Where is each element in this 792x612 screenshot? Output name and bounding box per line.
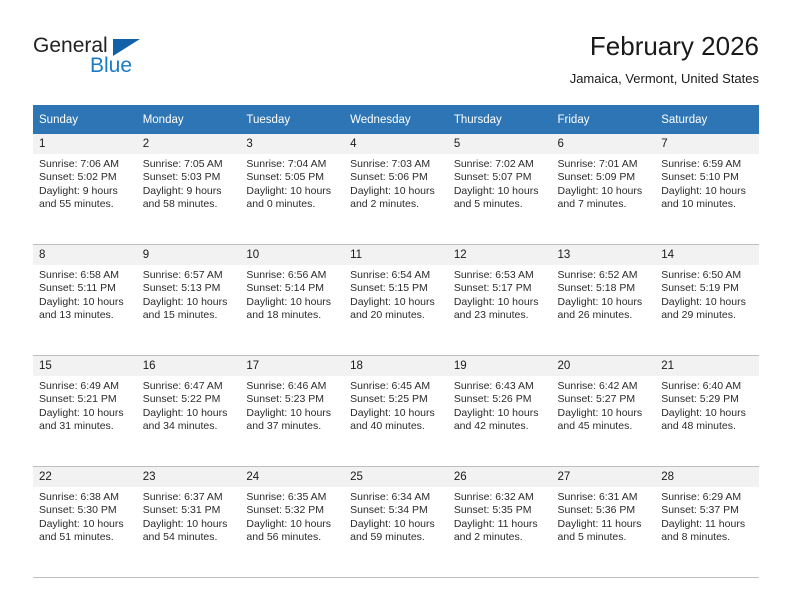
day-number: 9 bbox=[137, 245, 241, 265]
calendar-day-cell[interactable]: 23Sunrise: 6:37 AMSunset: 5:31 PMDayligh… bbox=[137, 467, 241, 578]
day-info-daylight-2: and 51 minutes. bbox=[39, 531, 131, 544]
day-info-daylight-1: Daylight: 10 hours bbox=[350, 407, 442, 420]
page-title: February 2026 bbox=[570, 30, 759, 62]
day-info-daylight-1: Daylight: 9 hours bbox=[143, 185, 235, 198]
day-info-sunset: Sunset: 5:03 PM bbox=[143, 171, 235, 184]
weekday-header-sunday: Sunday bbox=[33, 105, 137, 134]
day-info-daylight-2: and 29 minutes. bbox=[661, 309, 753, 322]
calendar-day-cell[interactable]: 10Sunrise: 6:56 AMSunset: 5:14 PMDayligh… bbox=[240, 245, 344, 356]
day-sun-info: Sunrise: 6:45 AMSunset: 5:25 PMDaylight:… bbox=[344, 376, 448, 434]
day-info-sunrise: Sunrise: 6:35 AM bbox=[246, 491, 338, 504]
calendar-day-cell[interactable]: 19Sunrise: 6:43 AMSunset: 5:26 PMDayligh… bbox=[448, 356, 552, 467]
day-info-daylight-1: Daylight: 10 hours bbox=[246, 518, 338, 531]
day-info-daylight-2: and 7 minutes. bbox=[558, 198, 650, 211]
calendar-day-cell[interactable]: 27Sunrise: 6:31 AMSunset: 5:36 PMDayligh… bbox=[552, 467, 656, 578]
day-info-sunset: Sunset: 5:11 PM bbox=[39, 282, 131, 295]
day-number: 2 bbox=[137, 134, 241, 154]
day-info-sunset: Sunset: 5:29 PM bbox=[661, 393, 753, 406]
day-info-sunset: Sunset: 5:14 PM bbox=[246, 282, 338, 295]
title-block: February 2026 Jamaica, Vermont, United S… bbox=[570, 30, 759, 89]
calendar-day-cell[interactable]: 26Sunrise: 6:32 AMSunset: 5:35 PMDayligh… bbox=[448, 467, 552, 578]
day-info-daylight-1: Daylight: 10 hours bbox=[661, 296, 753, 309]
day-sun-info: Sunrise: 6:52 AMSunset: 5:18 PMDaylight:… bbox=[552, 265, 656, 323]
day-info-daylight-2: and 8 minutes. bbox=[661, 531, 753, 544]
day-sun-info: Sunrise: 6:32 AMSunset: 5:35 PMDaylight:… bbox=[448, 487, 552, 545]
day-sun-info: Sunrise: 6:42 AMSunset: 5:27 PMDaylight:… bbox=[552, 376, 656, 434]
day-info-daylight-2: and 56 minutes. bbox=[246, 531, 338, 544]
day-info-sunset: Sunset: 5:37 PM bbox=[661, 504, 753, 517]
day-info-sunset: Sunset: 5:09 PM bbox=[558, 171, 650, 184]
calendar-day-cell[interactable]: 20Sunrise: 6:42 AMSunset: 5:27 PMDayligh… bbox=[552, 356, 656, 467]
calendar-day-cell[interactable]: 9Sunrise: 6:57 AMSunset: 5:13 PMDaylight… bbox=[137, 245, 241, 356]
day-info-daylight-2: and 59 minutes. bbox=[350, 531, 442, 544]
day-number: 26 bbox=[448, 467, 552, 487]
day-number: 15 bbox=[33, 356, 137, 376]
day-info-daylight-2: and 10 minutes. bbox=[661, 198, 753, 211]
day-info-sunrise: Sunrise: 6:56 AM bbox=[246, 269, 338, 282]
day-info-sunrise: Sunrise: 6:49 AM bbox=[39, 380, 131, 393]
day-info-sunrise: Sunrise: 6:29 AM bbox=[661, 491, 753, 504]
weekday-header-thursday: Thursday bbox=[448, 105, 552, 134]
day-sun-info: Sunrise: 7:03 AMSunset: 5:06 PMDaylight:… bbox=[344, 154, 448, 212]
day-sun-info: Sunrise: 6:58 AMSunset: 5:11 PMDaylight:… bbox=[33, 265, 137, 323]
day-info-sunset: Sunset: 5:19 PM bbox=[661, 282, 753, 295]
day-number: 3 bbox=[240, 134, 344, 154]
day-number: 8 bbox=[33, 245, 137, 265]
day-sun-info: Sunrise: 6:43 AMSunset: 5:26 PMDaylight:… bbox=[448, 376, 552, 434]
day-number: 21 bbox=[655, 356, 759, 376]
day-info-daylight-1: Daylight: 10 hours bbox=[39, 296, 131, 309]
day-info-sunrise: Sunrise: 6:37 AM bbox=[143, 491, 235, 504]
day-info-daylight-2: and 40 minutes. bbox=[350, 420, 442, 433]
calendar-week-row: 22Sunrise: 6:38 AMSunset: 5:30 PMDayligh… bbox=[33, 467, 759, 578]
day-info-sunset: Sunset: 5:15 PM bbox=[350, 282, 442, 295]
day-info-sunrise: Sunrise: 7:05 AM bbox=[143, 158, 235, 171]
calendar-day-cell[interactable]: 25Sunrise: 6:34 AMSunset: 5:34 PMDayligh… bbox=[344, 467, 448, 578]
day-info-daylight-2: and 13 minutes. bbox=[39, 309, 131, 322]
day-info-daylight-2: and 20 minutes. bbox=[350, 309, 442, 322]
day-number: 4 bbox=[344, 134, 448, 154]
day-number: 5 bbox=[448, 134, 552, 154]
day-info-sunset: Sunset: 5:27 PM bbox=[558, 393, 650, 406]
day-number: 1 bbox=[33, 134, 137, 154]
day-info-sunrise: Sunrise: 6:31 AM bbox=[558, 491, 650, 504]
day-info-daylight-1: Daylight: 10 hours bbox=[39, 407, 131, 420]
day-info-sunset: Sunset: 5:06 PM bbox=[350, 171, 442, 184]
day-info-sunrise: Sunrise: 7:04 AM bbox=[246, 158, 338, 171]
day-info-daylight-1: Daylight: 10 hours bbox=[143, 296, 235, 309]
day-info-daylight-1: Daylight: 10 hours bbox=[39, 518, 131, 531]
day-info-daylight-1: Daylight: 11 hours bbox=[454, 518, 546, 531]
day-info-daylight-2: and 26 minutes. bbox=[558, 309, 650, 322]
day-sun-info: Sunrise: 7:01 AMSunset: 5:09 PMDaylight:… bbox=[552, 154, 656, 212]
day-info-daylight-1: Daylight: 10 hours bbox=[350, 518, 442, 531]
calendar-day-cell[interactable]: 8Sunrise: 6:58 AMSunset: 5:11 PMDaylight… bbox=[33, 245, 137, 356]
calendar-table: Sunday Monday Tuesday Wednesday Thursday… bbox=[33, 105, 759, 578]
calendar-week-row: 15Sunrise: 6:49 AMSunset: 5:21 PMDayligh… bbox=[33, 356, 759, 467]
day-info-daylight-2: and 0 minutes. bbox=[246, 198, 338, 211]
day-info-sunrise: Sunrise: 6:43 AM bbox=[454, 380, 546, 393]
day-info-sunset: Sunset: 5:26 PM bbox=[454, 393, 546, 406]
day-info-sunset: Sunset: 5:32 PM bbox=[246, 504, 338, 517]
day-number: 10 bbox=[240, 245, 344, 265]
day-info-daylight-1: Daylight: 10 hours bbox=[246, 185, 338, 198]
weekday-header-monday: Monday bbox=[137, 105, 241, 134]
day-info-sunset: Sunset: 5:21 PM bbox=[39, 393, 131, 406]
day-info-sunset: Sunset: 5:17 PM bbox=[454, 282, 546, 295]
day-info-daylight-1: Daylight: 10 hours bbox=[350, 185, 442, 198]
weekday-header-saturday: Saturday bbox=[655, 105, 759, 134]
day-info-sunrise: Sunrise: 6:57 AM bbox=[143, 269, 235, 282]
day-info-daylight-2: and 48 minutes. bbox=[661, 420, 753, 433]
day-number: 22 bbox=[33, 467, 137, 487]
day-sun-info: Sunrise: 6:29 AMSunset: 5:37 PMDaylight:… bbox=[655, 487, 759, 545]
day-number: 7 bbox=[655, 134, 759, 154]
day-info-sunrise: Sunrise: 6:47 AM bbox=[143, 380, 235, 393]
weekday-header-friday: Friday bbox=[552, 105, 656, 134]
day-info-sunset: Sunset: 5:23 PM bbox=[246, 393, 338, 406]
day-number: 28 bbox=[655, 467, 759, 487]
calendar-page: General Blue February 2026 Jamaica, Verm… bbox=[0, 0, 792, 612]
day-sun-info: Sunrise: 7:05 AMSunset: 5:03 PMDaylight:… bbox=[137, 154, 241, 212]
day-info-daylight-2: and 15 minutes. bbox=[143, 309, 235, 322]
day-info-daylight-1: Daylight: 10 hours bbox=[558, 296, 650, 309]
day-sun-info: Sunrise: 6:54 AMSunset: 5:15 PMDaylight:… bbox=[344, 265, 448, 323]
calendar-day-cell[interactable]: 11Sunrise: 6:54 AMSunset: 5:15 PMDayligh… bbox=[344, 245, 448, 356]
day-info-daylight-2: and 58 minutes. bbox=[143, 198, 235, 211]
day-info-daylight-1: Daylight: 10 hours bbox=[246, 407, 338, 420]
day-info-daylight-1: Daylight: 10 hours bbox=[661, 407, 753, 420]
calendar-day-cell[interactable]: 5Sunrise: 7:02 AMSunset: 5:07 PMDaylight… bbox=[448, 134, 552, 245]
day-info-daylight-1: Daylight: 11 hours bbox=[558, 518, 650, 531]
day-sun-info: Sunrise: 6:37 AMSunset: 5:31 PMDaylight:… bbox=[137, 487, 241, 545]
day-info-daylight-1: Daylight: 10 hours bbox=[350, 296, 442, 309]
day-info-sunrise: Sunrise: 6:58 AM bbox=[39, 269, 131, 282]
day-info-daylight-1: Daylight: 10 hours bbox=[454, 407, 546, 420]
day-sun-info: Sunrise: 7:04 AMSunset: 5:05 PMDaylight:… bbox=[240, 154, 344, 212]
day-info-sunset: Sunset: 5:07 PM bbox=[454, 171, 546, 184]
day-info-sunset: Sunset: 5:36 PM bbox=[558, 504, 650, 517]
logo-text-blue: Blue bbox=[90, 54, 132, 78]
day-number: 25 bbox=[344, 467, 448, 487]
day-info-sunset: Sunset: 5:31 PM bbox=[143, 504, 235, 517]
day-sun-info: Sunrise: 6:47 AMSunset: 5:22 PMDaylight:… bbox=[137, 376, 241, 434]
day-number: 19 bbox=[448, 356, 552, 376]
day-number: 23 bbox=[137, 467, 241, 487]
day-sun-info: Sunrise: 7:06 AMSunset: 5:02 PMDaylight:… bbox=[33, 154, 137, 212]
day-info-daylight-2: and 2 minutes. bbox=[350, 198, 442, 211]
day-info-daylight-2: and 34 minutes. bbox=[143, 420, 235, 433]
day-info-sunset: Sunset: 5:02 PM bbox=[39, 171, 131, 184]
day-sun-info: Sunrise: 6:34 AMSunset: 5:34 PMDaylight:… bbox=[344, 487, 448, 545]
day-info-daylight-2: and 37 minutes. bbox=[246, 420, 338, 433]
day-info-daylight-2: and 45 minutes. bbox=[558, 420, 650, 433]
day-info-sunset: Sunset: 5:25 PM bbox=[350, 393, 442, 406]
day-number: 16 bbox=[137, 356, 241, 376]
day-info-daylight-1: Daylight: 10 hours bbox=[454, 185, 546, 198]
day-sun-info: Sunrise: 6:46 AMSunset: 5:23 PMDaylight:… bbox=[240, 376, 344, 434]
calendar-day-cell[interactable]: 6Sunrise: 7:01 AMSunset: 5:09 PMDaylight… bbox=[552, 134, 656, 245]
day-info-sunset: Sunset: 5:35 PM bbox=[454, 504, 546, 517]
weekday-header-wednesday: Wednesday bbox=[344, 105, 448, 134]
day-sun-info: Sunrise: 6:49 AMSunset: 5:21 PMDaylight:… bbox=[33, 376, 137, 434]
day-info-sunrise: Sunrise: 6:42 AM bbox=[558, 380, 650, 393]
day-number: 12 bbox=[448, 245, 552, 265]
day-info-sunrise: Sunrise: 7:02 AM bbox=[454, 158, 546, 171]
day-sun-info: Sunrise: 6:35 AMSunset: 5:32 PMDaylight:… bbox=[240, 487, 344, 545]
day-info-daylight-2: and 2 minutes. bbox=[454, 531, 546, 544]
calendar-day-cell[interactable]: 13Sunrise: 6:52 AMSunset: 5:18 PMDayligh… bbox=[552, 245, 656, 356]
day-info-daylight-1: Daylight: 10 hours bbox=[246, 296, 338, 309]
day-info-sunset: Sunset: 5:30 PM bbox=[39, 504, 131, 517]
day-info-sunrise: Sunrise: 6:53 AM bbox=[454, 269, 546, 282]
day-number: 6 bbox=[552, 134, 656, 154]
page-header: General Blue February 2026 Jamaica, Verm… bbox=[33, 30, 759, 98]
calendar-day-cell[interactable]: 12Sunrise: 6:53 AMSunset: 5:17 PMDayligh… bbox=[448, 245, 552, 356]
day-info-sunrise: Sunrise: 6:45 AM bbox=[350, 380, 442, 393]
day-number: 14 bbox=[655, 245, 759, 265]
calendar-day-cell[interactable]: 15Sunrise: 6:49 AMSunset: 5:21 PMDayligh… bbox=[33, 356, 137, 467]
day-info-sunset: Sunset: 5:34 PM bbox=[350, 504, 442, 517]
day-info-sunrise: Sunrise: 6:40 AM bbox=[661, 380, 753, 393]
day-sun-info: Sunrise: 6:59 AMSunset: 5:10 PMDaylight:… bbox=[655, 154, 759, 212]
day-sun-info: Sunrise: 6:57 AMSunset: 5:13 PMDaylight:… bbox=[137, 265, 241, 323]
day-info-daylight-1: Daylight: 9 hours bbox=[39, 185, 131, 198]
day-info-daylight-1: Daylight: 10 hours bbox=[558, 185, 650, 198]
day-info-sunset: Sunset: 5:22 PM bbox=[143, 393, 235, 406]
calendar-day-cell[interactable]: 3Sunrise: 7:04 AMSunset: 5:05 PMDaylight… bbox=[240, 134, 344, 245]
day-number: 11 bbox=[344, 245, 448, 265]
day-info-sunrise: Sunrise: 7:06 AM bbox=[39, 158, 131, 171]
day-info-sunrise: Sunrise: 6:52 AM bbox=[558, 269, 650, 282]
calendar-day-cell[interactable]: 28Sunrise: 6:29 AMSunset: 5:37 PMDayligh… bbox=[655, 467, 759, 578]
day-info-daylight-2: and 55 minutes. bbox=[39, 198, 131, 211]
day-info-sunrise: Sunrise: 6:54 AM bbox=[350, 269, 442, 282]
day-info-daylight-1: Daylight: 10 hours bbox=[143, 518, 235, 531]
day-info-sunrise: Sunrise: 6:32 AM bbox=[454, 491, 546, 504]
day-info-daylight-2: and 5 minutes. bbox=[454, 198, 546, 211]
day-info-daylight-2: and 5 minutes. bbox=[558, 531, 650, 544]
day-sun-info: Sunrise: 6:38 AMSunset: 5:30 PMDaylight:… bbox=[33, 487, 137, 545]
day-sun-info: Sunrise: 6:40 AMSunset: 5:29 PMDaylight:… bbox=[655, 376, 759, 434]
calendar-body: 1Sunrise: 7:06 AMSunset: 5:02 PMDaylight… bbox=[33, 134, 759, 578]
day-sun-info: Sunrise: 6:50 AMSunset: 5:19 PMDaylight:… bbox=[655, 265, 759, 323]
calendar-day-cell[interactable]: 14Sunrise: 6:50 AMSunset: 5:19 PMDayligh… bbox=[655, 245, 759, 356]
day-sun-info: Sunrise: 6:31 AMSunset: 5:36 PMDaylight:… bbox=[552, 487, 656, 545]
calendar-day-cell[interactable]: 7Sunrise: 6:59 AMSunset: 5:10 PMDaylight… bbox=[655, 134, 759, 245]
day-info-sunrise: Sunrise: 6:50 AM bbox=[661, 269, 753, 282]
day-sun-info: Sunrise: 7:02 AMSunset: 5:07 PMDaylight:… bbox=[448, 154, 552, 212]
day-info-sunrise: Sunrise: 6:38 AM bbox=[39, 491, 131, 504]
day-number: 20 bbox=[552, 356, 656, 376]
day-info-sunset: Sunset: 5:18 PM bbox=[558, 282, 650, 295]
calendar-day-cell[interactable]: 17Sunrise: 6:46 AMSunset: 5:23 PMDayligh… bbox=[240, 356, 344, 467]
general-blue-logo[interactable]: General Blue bbox=[33, 34, 233, 90]
day-info-daylight-1: Daylight: 10 hours bbox=[454, 296, 546, 309]
calendar-day-cell[interactable]: 18Sunrise: 6:45 AMSunset: 5:25 PMDayligh… bbox=[344, 356, 448, 467]
day-sun-info: Sunrise: 6:56 AMSunset: 5:14 PMDaylight:… bbox=[240, 265, 344, 323]
calendar-header-row: Sunday Monday Tuesday Wednesday Thursday… bbox=[33, 105, 759, 134]
calendar-day-cell[interactable]: 16Sunrise: 6:47 AMSunset: 5:22 PMDayligh… bbox=[137, 356, 241, 467]
day-info-sunrise: Sunrise: 7:01 AM bbox=[558, 158, 650, 171]
calendar-day-cell[interactable]: 1Sunrise: 7:06 AMSunset: 5:02 PMDaylight… bbox=[33, 134, 137, 245]
day-info-sunset: Sunset: 5:05 PM bbox=[246, 171, 338, 184]
day-info-daylight-2: and 54 minutes. bbox=[143, 531, 235, 544]
day-info-daylight-2: and 18 minutes. bbox=[246, 309, 338, 322]
calendar-day-cell[interactable]: 21Sunrise: 6:40 AMSunset: 5:29 PMDayligh… bbox=[655, 356, 759, 467]
calendar-day-cell[interactable]: 24Sunrise: 6:35 AMSunset: 5:32 PMDayligh… bbox=[240, 467, 344, 578]
day-info-sunrise: Sunrise: 6:59 AM bbox=[661, 158, 753, 171]
day-sun-info: Sunrise: 6:53 AMSunset: 5:17 PMDaylight:… bbox=[448, 265, 552, 323]
day-info-sunrise: Sunrise: 6:34 AM bbox=[350, 491, 442, 504]
day-info-sunrise: Sunrise: 7:03 AM bbox=[350, 158, 442, 171]
calendar-day-cell[interactable]: 2Sunrise: 7:05 AMSunset: 5:03 PMDaylight… bbox=[137, 134, 241, 245]
day-number: 13 bbox=[552, 245, 656, 265]
weekday-header-tuesday: Tuesday bbox=[240, 105, 344, 134]
day-info-sunset: Sunset: 5:10 PM bbox=[661, 171, 753, 184]
calendar-week-row: 8Sunrise: 6:58 AMSunset: 5:11 PMDaylight… bbox=[33, 245, 759, 356]
day-info-daylight-2: and 42 minutes. bbox=[454, 420, 546, 433]
day-info-sunset: Sunset: 5:13 PM bbox=[143, 282, 235, 295]
day-number: 27 bbox=[552, 467, 656, 487]
day-info-daylight-2: and 23 minutes. bbox=[454, 309, 546, 322]
day-info-daylight-1: Daylight: 10 hours bbox=[143, 407, 235, 420]
day-number: 17 bbox=[240, 356, 344, 376]
day-info-daylight-1: Daylight: 10 hours bbox=[661, 185, 753, 198]
day-info-sunrise: Sunrise: 6:46 AM bbox=[246, 380, 338, 393]
page-subtitle-location: Jamaica, Vermont, United States bbox=[570, 69, 759, 89]
day-info-daylight-1: Daylight: 11 hours bbox=[661, 518, 753, 531]
day-number: 24 bbox=[240, 467, 344, 487]
day-number: 18 bbox=[344, 356, 448, 376]
calendar-day-cell[interactable]: 22Sunrise: 6:38 AMSunset: 5:30 PMDayligh… bbox=[33, 467, 137, 578]
day-info-daylight-2: and 31 minutes. bbox=[39, 420, 131, 433]
calendar-week-row: 1Sunrise: 7:06 AMSunset: 5:02 PMDaylight… bbox=[33, 134, 759, 245]
day-info-daylight-1: Daylight: 10 hours bbox=[558, 407, 650, 420]
calendar-day-cell[interactable]: 4Sunrise: 7:03 AMSunset: 5:06 PMDaylight… bbox=[344, 134, 448, 245]
